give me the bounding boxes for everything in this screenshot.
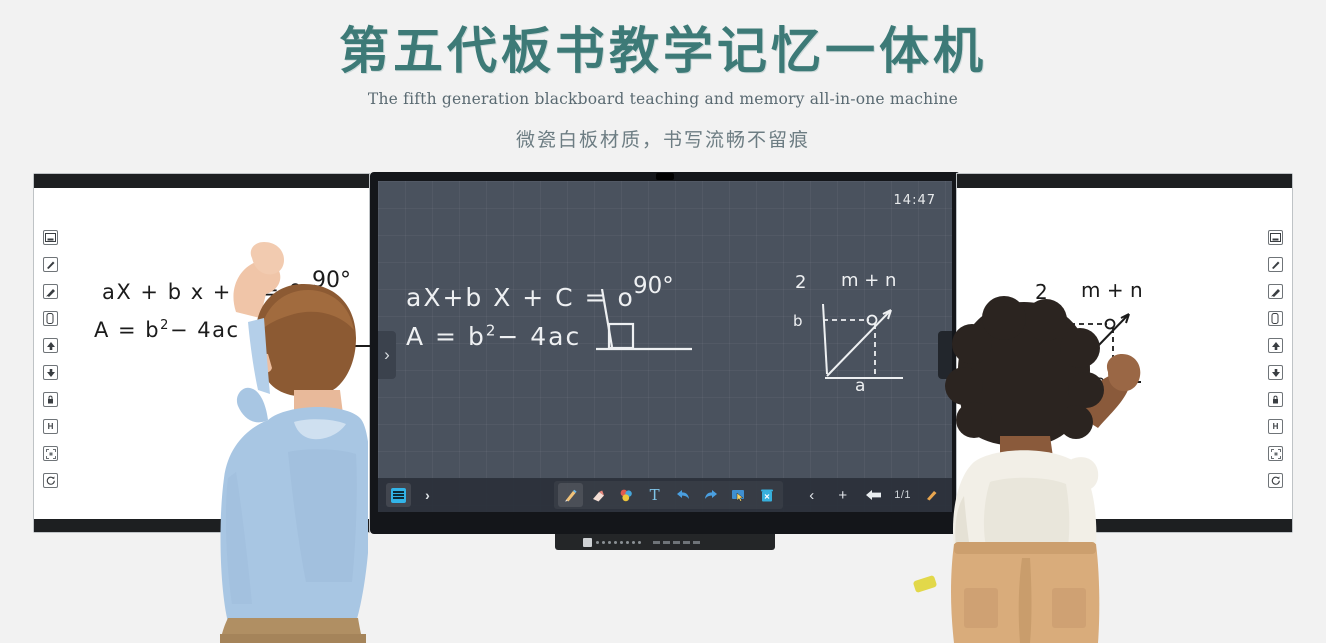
- pen-thin-button[interactable]: [43, 257, 58, 272]
- home-button-label: H: [1273, 423, 1279, 431]
- screen-diagram-label-2: 2: [795, 272, 806, 293]
- add-page-button[interactable]: +: [830, 483, 855, 507]
- grid-button[interactable]: [43, 446, 58, 461]
- lock-button[interactable]: [43, 392, 58, 407]
- power-indicator-icon: [583, 538, 592, 547]
- page-title-cn: 第五代板书教学记忆一体机: [0, 22, 1326, 80]
- text-tool-label: T: [650, 486, 660, 504]
- pen-thin-button[interactable]: [1268, 257, 1283, 272]
- scroll-down-button[interactable]: [43, 365, 58, 380]
- interactive-screen[interactable]: 14:47 › aX+b X + C = o A = b2− 4ac 90°: [378, 181, 952, 512]
- page-subtitle-cn: 微瓷白板材质，书写流畅不留痕: [0, 125, 1326, 152]
- screen-toggle-button[interactable]: [1268, 230, 1283, 245]
- screen-toolbar: ›: [378, 478, 952, 512]
- page-root: 第五代板书教学记忆一体机 The fifth generation blackb…: [0, 0, 1326, 643]
- chevron-left-icon: ‹: [809, 487, 814, 504]
- refresh-button[interactable]: [1268, 473, 1283, 488]
- chevron-right-icon: ›: [425, 487, 430, 503]
- pen-thick-button[interactable]: [1268, 284, 1283, 299]
- delete-tool-button[interactable]: [754, 483, 779, 507]
- home-button[interactable]: H: [43, 419, 58, 434]
- grid-button[interactable]: [1268, 446, 1283, 461]
- wing-right-top-bezel: [957, 174, 1292, 188]
- home-button[interactable]: H: [1268, 419, 1283, 434]
- toolbar-expand-button[interactable]: ›: [415, 483, 440, 507]
- scroll-up-button[interactable]: [43, 338, 58, 353]
- screen-eq2-prefix: A = b: [406, 322, 486, 351]
- page-title-en: The fifth generation blackboard teaching…: [0, 90, 1326, 108]
- camera-icon: [656, 173, 674, 180]
- device-control-strip: [555, 534, 775, 550]
- screen-eq2-exp: 2: [486, 321, 498, 339]
- menu-icon: [391, 488, 406, 503]
- toolbar-tools: T: [554, 481, 783, 509]
- undo-tool-button[interactable]: [670, 483, 695, 507]
- lock-button[interactable]: [1268, 392, 1283, 407]
- screen-toggle-button[interactable]: [43, 230, 58, 245]
- page-button[interactable]: [1268, 311, 1283, 326]
- toolbar-tools-group: T: [538, 481, 799, 509]
- person-right-female-student: [900, 296, 1150, 643]
- side-rail-right: H: [1268, 230, 1283, 488]
- side-rail-left: H: [43, 230, 58, 488]
- panel-expand-handle[interactable]: ›: [378, 331, 396, 379]
- speaker-vents: [653, 541, 700, 544]
- scroll-down-button[interactable]: [1268, 365, 1283, 380]
- screen-diagram-label-b: b: [793, 312, 803, 330]
- menu-button[interactable]: [386, 483, 411, 507]
- toolbar-left-group: ›: [378, 483, 538, 507]
- select-tool-button[interactable]: [726, 483, 751, 507]
- person-left-male-teacher: [108, 222, 368, 643]
- pen-thick-button[interactable]: [43, 284, 58, 299]
- pen-tool-button[interactable]: [558, 483, 583, 507]
- chevron-right-icon: ›: [384, 345, 390, 365]
- color-palette-tool-button[interactable]: [614, 483, 639, 507]
- page-button[interactable]: [43, 311, 58, 326]
- header: 第五代板书教学记忆一体机 The fifth generation blackb…: [0, 0, 1326, 152]
- wing-left-top-bezel: [34, 174, 369, 188]
- redo-tool-button[interactable]: [698, 483, 723, 507]
- screen-angle-diagram: [588, 289, 698, 359]
- screen-eq2-suffix: − 4ac: [497, 322, 581, 351]
- prev-page-button[interactable]: ‹: [799, 483, 824, 507]
- back-button[interactable]: [861, 483, 886, 507]
- eraser-tool-button[interactable]: [586, 483, 611, 507]
- control-dots: [596, 541, 641, 544]
- home-button-label: H: [48, 423, 54, 431]
- screen-diagram-label-mn: m + n: [841, 270, 896, 291]
- center-smart-panel: 14:47 › aX+b X + C = o A = b2− 4ac 90°: [370, 172, 960, 534]
- refresh-button[interactable]: [43, 473, 58, 488]
- clock-display: 14:47: [894, 193, 936, 208]
- text-tool-button[interactable]: T: [642, 483, 667, 507]
- scroll-up-button[interactable]: [1268, 338, 1283, 353]
- plus-icon: +: [838, 487, 847, 504]
